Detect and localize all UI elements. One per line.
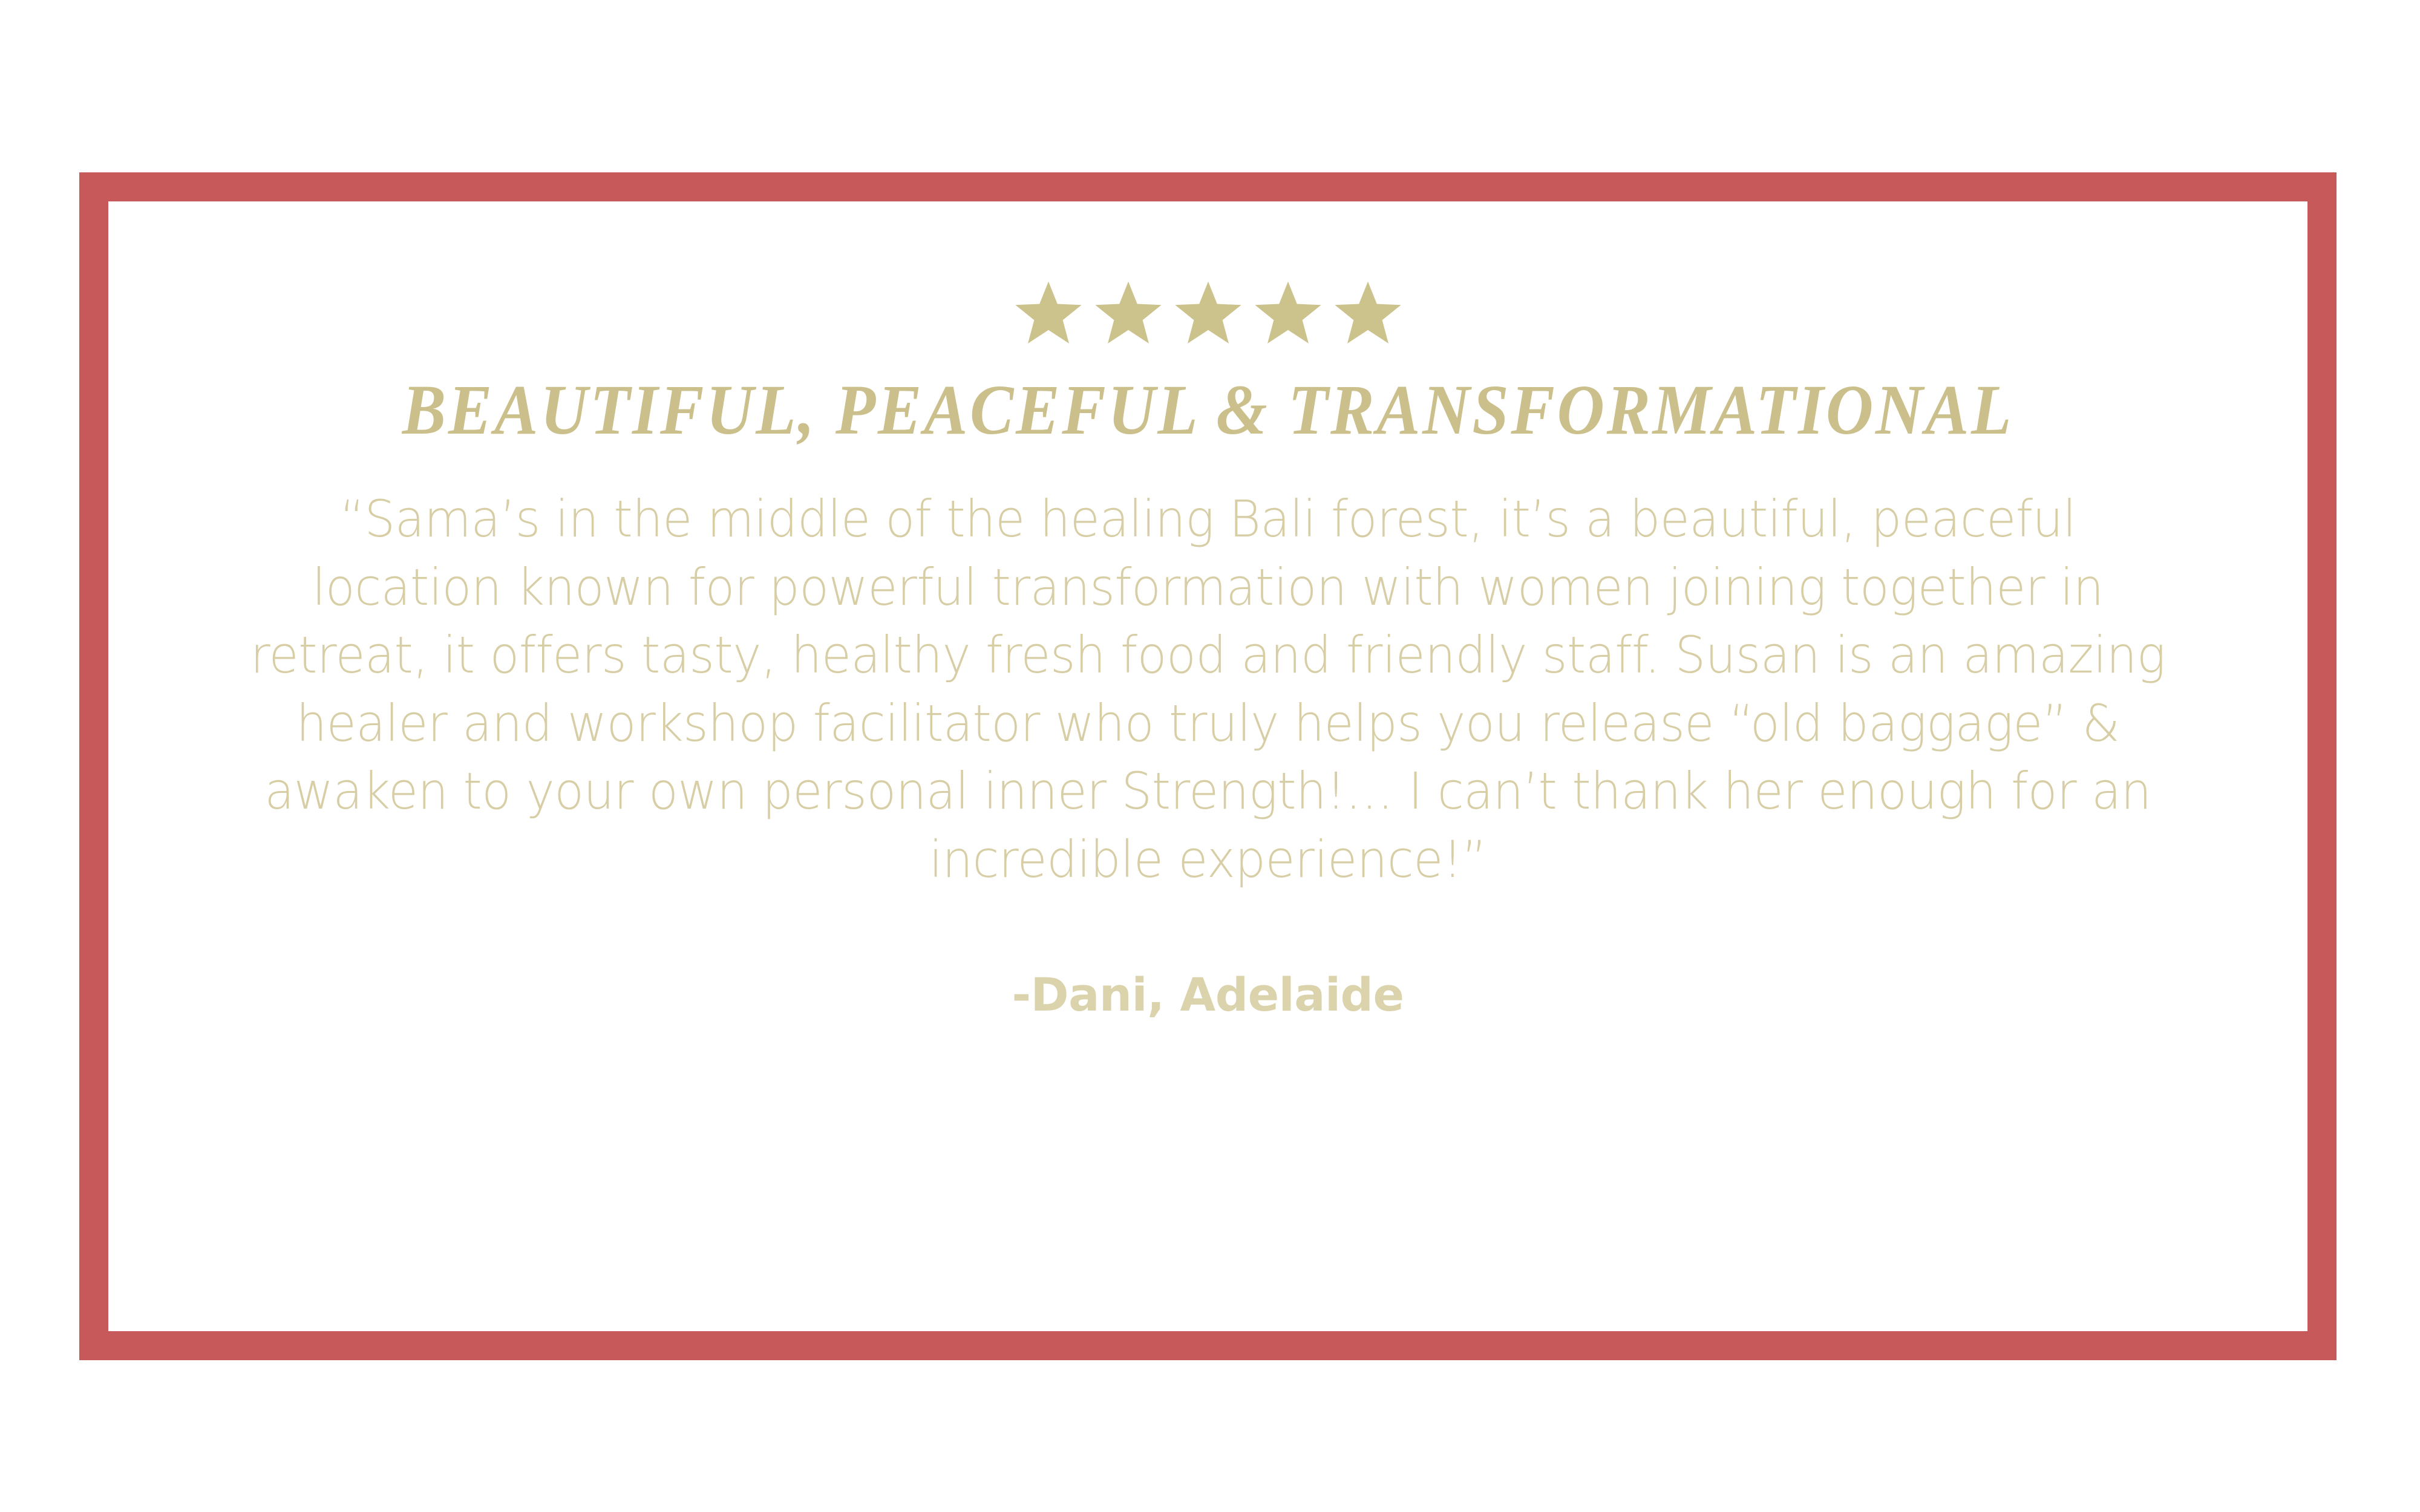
- testimonial-canvas: BEAUTIFUL, PEACEFUL & TRANSFORMATIONAL “…: [0, 0, 2420, 1512]
- star-icon: [1094, 280, 1162, 345]
- star-rating: [1015, 280, 1402, 345]
- testimonial-card-inner: BEAUTIFUL, PEACEFUL & TRANSFORMATIONAL “…: [108, 201, 2307, 1331]
- star-icon: [1334, 280, 1402, 345]
- star-icon: [1174, 280, 1242, 345]
- testimonial-card: BEAUTIFUL, PEACEFUL & TRANSFORMATIONAL “…: [79, 172, 2337, 1360]
- review-body-text: “Sama’s in the middle of the healing Bal…: [249, 485, 2166, 893]
- review-title: BEAUTIFUL, PEACEFUL & TRANSFORMATIONAL: [402, 372, 2013, 448]
- star-icon: [1015, 280, 1082, 345]
- star-icon: [1254, 280, 1322, 345]
- review-attribution: -Dani, Adelaide: [1012, 967, 1404, 1022]
